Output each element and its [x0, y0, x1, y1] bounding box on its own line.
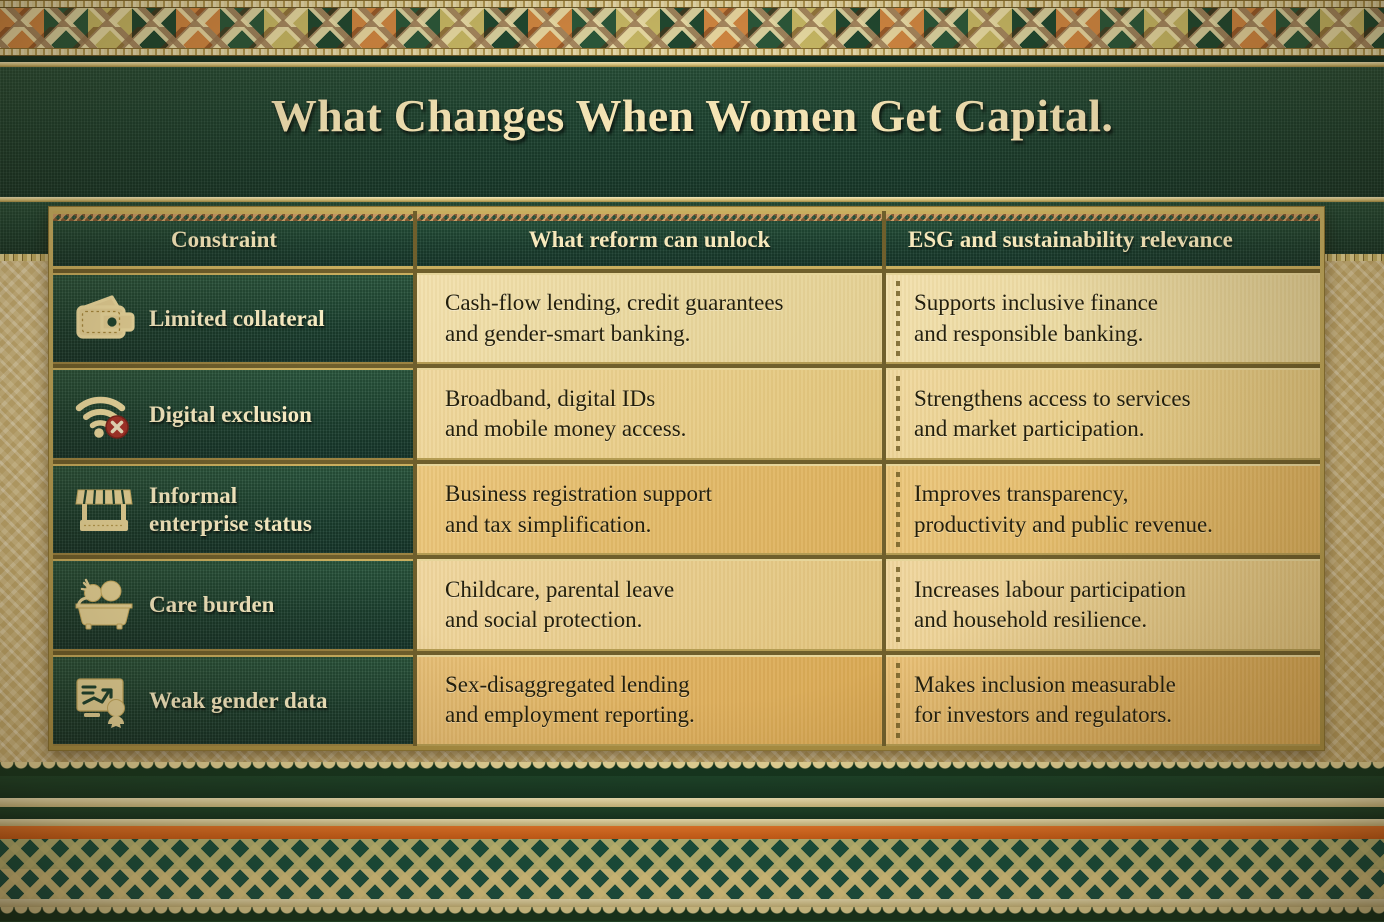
esg-cell: Makes inclusion measurable for investors… — [886, 655, 1320, 746]
constraint-label: Limited collateral — [149, 305, 325, 332]
table-row: Weak gender data Sex-disaggregated lendi… — [53, 655, 1320, 746]
esg-cell: Increases labour participation and house… — [886, 559, 1320, 650]
reform-line-1: Childcare, parental leave — [445, 575, 868, 605]
reform-line-2: and employment reporting. — [445, 700, 868, 730]
scallop-band — [0, 762, 1384, 776]
table-row: Care burden Childcare, parental leave an… — [53, 559, 1320, 650]
constraint-label: Informal enterprise status — [149, 482, 312, 536]
constraint-label: Care burden — [149, 591, 274, 618]
green-band-1 — [0, 776, 1384, 798]
esg-line-1: Improves transparency, — [914, 479, 1306, 509]
table-row: Informal enterprise status Business regi… — [53, 464, 1320, 555]
comparison-table-frame: Constraint What reform can unlock ESG an… — [48, 206, 1325, 751]
constraint-cell: Care burden — [53, 559, 413, 650]
gold-rule-top — [0, 0, 1384, 8]
orange-band — [0, 826, 1384, 839]
esg-cell: Improves transparency, productivity and … — [886, 464, 1320, 555]
esg-line-1: Makes inclusion measurable — [914, 670, 1306, 700]
esg-line-2: productivity and public revenue. — [914, 510, 1306, 540]
cream-band-2 — [0, 819, 1384, 826]
diamond-pattern-strip — [0, 8, 1384, 48]
header-triangle-edge-3 — [886, 214, 1320, 221]
column-header-constraint-label: Constraint — [53, 227, 413, 253]
bottom-ornament-border — [0, 762, 1384, 922]
constraint-cell: Digital exclusion — [53, 368, 413, 459]
green-band-2 — [0, 807, 1384, 819]
reform-cell: Cash-flow lending, credit guarantees and… — [417, 273, 882, 364]
column-header-reform-label: What reform can unlock — [417, 227, 882, 253]
table-header-row: Constraint What reform can unlock ESG an… — [53, 211, 1320, 269]
wallet-icon — [71, 291, 137, 347]
reform-line-2: and tax simplification. — [445, 510, 868, 540]
top-ornament-border — [0, 0, 1384, 62]
reform-line-2: and mobile money access. — [445, 414, 868, 444]
esg-cell: Strengthens access to services and marke… — [886, 368, 1320, 459]
constraint-cell: Informal enterprise status — [53, 464, 413, 555]
reform-line-1: Cash-flow lending, credit guarantees — [445, 288, 868, 318]
reform-line-2: and social protection. — [445, 605, 868, 635]
esg-line-1: Supports inclusive finance — [914, 288, 1306, 318]
column-header-esg-label: ESG and sustainability relevance — [886, 227, 1320, 253]
olive-diamond-band — [0, 839, 1384, 869]
esg-line-2: and market participation. — [914, 414, 1306, 444]
reform-cell: Business registration support and tax si… — [417, 464, 882, 555]
column-header-constraint: Constraint — [53, 211, 413, 269]
title-banner: What Changes When Women Get Capital. — [0, 62, 1384, 197]
reform-line-1: Broadband, digital IDs — [445, 384, 868, 414]
esg-line-1: Strengthens access to services — [914, 384, 1306, 414]
reform-line-2: and gender-smart banking. — [445, 319, 868, 349]
esg-line-2: for investors and regulators. — [914, 700, 1306, 730]
scallop-band-2 — [0, 907, 1384, 921]
reform-cell: Sex-disaggregated lending and employment… — [417, 655, 882, 746]
reform-cell: Broadband, digital IDs and mobile money … — [417, 368, 882, 459]
gold-diamond-band — [0, 869, 1384, 899]
constraint-cell: Limited collateral — [53, 273, 413, 364]
constraint-label: Weak gender data — [149, 687, 327, 714]
cream-band-1 — [0, 798, 1384, 807]
page-title: What Changes When Women Get Capital. — [0, 67, 1384, 139]
header-triangle-edge-2 — [417, 214, 882, 221]
column-header-reform: What reform can unlock — [417, 211, 882, 269]
bathtub-icon — [71, 577, 137, 633]
esg-line-2: and household resilience. — [914, 605, 1306, 635]
table-row: Limited collateral Cash-flow lending, cr… — [53, 273, 1320, 364]
gold-rule-under-diamonds — [0, 48, 1384, 56]
esg-line-2: and responsible banking. — [914, 319, 1306, 349]
comparison-table: Constraint What reform can unlock ESG an… — [53, 211, 1320, 746]
table-row: Digital exclusion Broadband, digital IDs… — [53, 368, 1320, 459]
constraint-cell: Weak gender data — [53, 655, 413, 746]
esg-line-1: Increases labour participation — [914, 575, 1306, 605]
constraint-label: Digital exclusion — [149, 401, 312, 428]
esg-cell: Supports inclusive finance and responsib… — [886, 273, 1320, 364]
wifi-off-icon — [71, 386, 137, 442]
header-triangle-edge-1 — [53, 214, 413, 221]
reform-line-1: Sex-disaggregated lending — [445, 670, 868, 700]
poster-canvas: What Changes When Women Get Capital. — S… — [0, 0, 1384, 922]
column-header-esg: ESG and sustainability relevance — [886, 211, 1320, 269]
reform-cell: Childcare, parental leave and social pro… — [417, 559, 882, 650]
chart-person-icon — [71, 672, 137, 728]
market-stall-icon — [71, 482, 137, 538]
reform-line-1: Business registration support — [445, 479, 868, 509]
cream-band-3 — [0, 899, 1384, 907]
